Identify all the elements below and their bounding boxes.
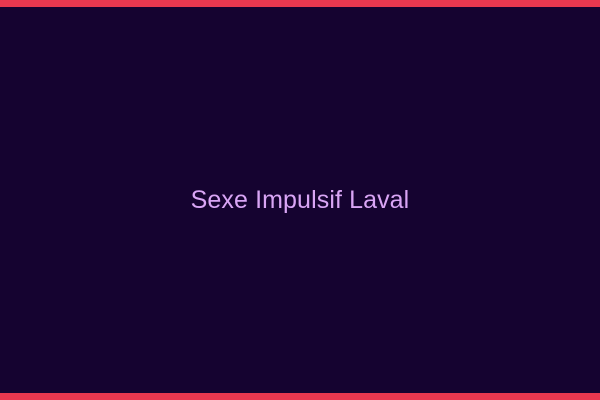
bottom-accent-bar: [0, 393, 600, 400]
banner-placeholder: Sexe Impulsif Laval: [0, 0, 600, 400]
top-accent-bar: [0, 0, 600, 7]
banner-title-text: Sexe Impulsif Laval: [191, 185, 410, 215]
banner-content-area: Sexe Impulsif Laval: [0, 7, 600, 393]
